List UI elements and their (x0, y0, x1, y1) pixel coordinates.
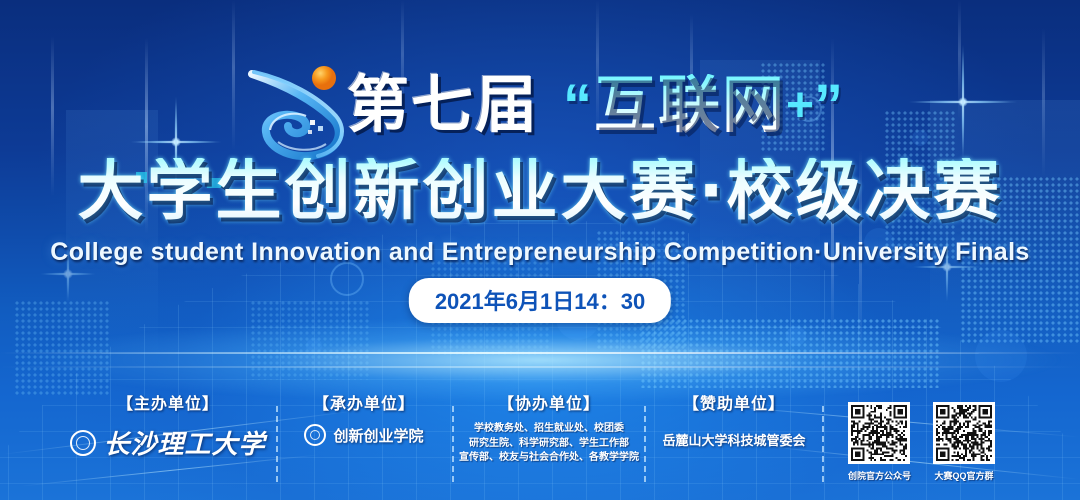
subtitle-english: College student Innovation and Entrepren… (0, 238, 1080, 267)
bg-sweep-line (0, 366, 1080, 368)
sponsor-heading: 【赞助单位】 (648, 390, 820, 414)
sponsor-section-undertaker: 【承办单位】 创新创业学院 (280, 390, 448, 446)
qr-code-icon[interactable] (933, 402, 995, 464)
bg-sweep-line (0, 352, 1080, 354)
sponsor-org-name: 长沙理工大学 (103, 424, 265, 461)
bg-dot-grid (640, 318, 940, 388)
event-poster: 第七届 “ 互联网 + ” 大学生创新创业大赛·校级决赛 College stu… (0, 0, 1080, 500)
sponsor-body: 创新创业学院 (280, 424, 448, 446)
qr-item-wechat[interactable]: 创院官方公众号 (848, 402, 911, 482)
band-divider (822, 406, 824, 482)
sponsor-org-list: 学校教务处、招生就业处、校团委 研究生院、科学研究部、学生工作部 宣传部、校友与… (456, 422, 642, 466)
title-line-1: 第七届 “ 互联网 + ” (0, 62, 1080, 148)
sponsor-org-line: 宣传部、校友与社会合作处、各教学学院 (456, 451, 642, 466)
band-divider (452, 406, 454, 482)
sponsor-org-name: 岳麓山大学科技城管委会 (662, 430, 805, 449)
bg-dot-grid (14, 300, 110, 396)
bg-circle (306, 338, 322, 354)
sponsor-heading: 【承办单位】 (280, 390, 448, 414)
sponsor-heading: 【协办单位】 (456, 390, 642, 414)
sponsor-section-patron: 【赞助单位】 岳麓山大学科技城管委会 (648, 390, 820, 449)
band-divider (276, 406, 278, 482)
qr-label: 创院官方公众号 (848, 469, 911, 482)
qr-item-qq[interactable]: 大赛QQ官方群 (933, 402, 995, 482)
bg-ring-circle (330, 262, 364, 296)
qr-label: 大赛QQ官方群 (933, 469, 995, 482)
bg-dot-grid (250, 300, 370, 380)
sponsor-heading: 【主办单位】 (60, 390, 276, 414)
sponsor-body: 岳麓山大学科技城管委会 (648, 430, 820, 449)
event-date-badge: 2021年6月1日14：30 (409, 278, 671, 323)
sponsor-org-name: 创新创业学院 (333, 425, 423, 446)
sponsor-body: 长沙理工大学 (60, 424, 276, 461)
sponsor-section-organizer: 【主办单位】 长沙理工大学 (60, 390, 276, 461)
quote-open: “ (563, 72, 592, 139)
qr-code-group: 创院官方公众号 大赛QQ官方群 (848, 402, 995, 482)
sponsor-org-line: 学校教务处、招生就业处、校团委 (456, 422, 642, 437)
college-seal-icon (304, 424, 326, 446)
sponsor-section-co-organizer: 【协办单位】 学校教务处、招生就业处、校团委 研究生院、科学研究部、学生工作部 … (456, 390, 642, 466)
sponsor-org-line: 研究生院、科学研究部、学生工作部 (456, 437, 642, 452)
title-prefix: 第七届 (347, 74, 539, 136)
quote-close: ” (814, 72, 843, 139)
title-highlight: 互联网 (594, 74, 786, 136)
band-divider (644, 406, 646, 482)
title-line-2: 大学生创新创业大赛·校级决赛 (0, 158, 1080, 224)
qr-code-icon[interactable] (848, 402, 910, 464)
bg-circle (975, 330, 1027, 382)
sponsor-band: 【主办单位】 长沙理工大学 【承办单位】 创新创业学院 【协办单位】 学校教务处… (0, 390, 1080, 500)
title-plus-sign: + (786, 78, 814, 133)
bg-circle (786, 326, 806, 346)
csust-seal-icon (70, 430, 96, 456)
